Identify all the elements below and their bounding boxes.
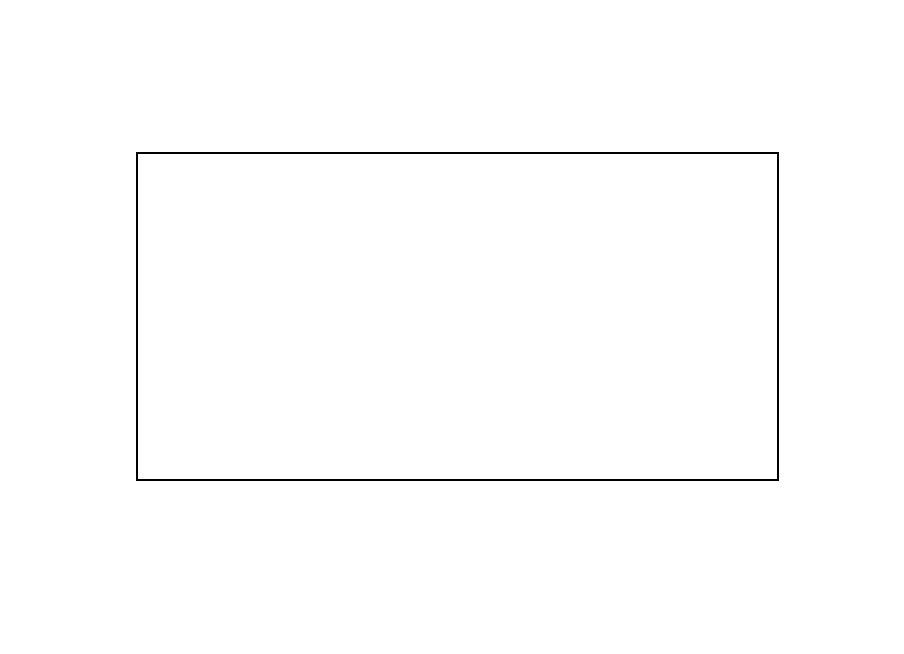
plot-area [136,152,779,481]
contour-field [138,154,777,479]
figure-canvas [0,0,904,654]
colorbar [782,196,810,518]
colorbar-swatches [782,196,810,518]
